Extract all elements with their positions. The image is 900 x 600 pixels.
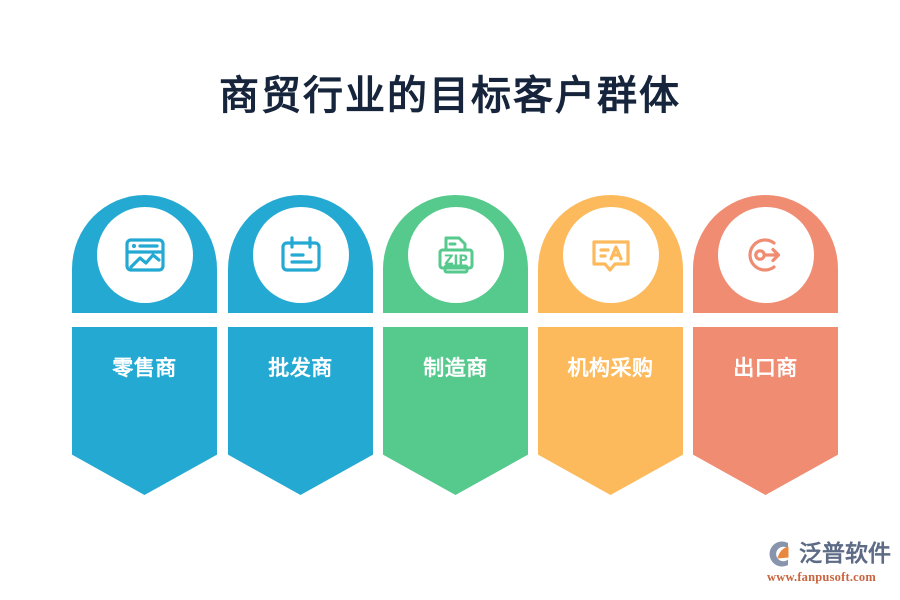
category-card-retailer[interactable]: 零售商 [72,195,217,505]
icon-circle: ZIP [408,207,504,303]
page-title: 商贸行业的目标客户群体 [0,72,900,120]
card-banner: 零售商 [72,327,217,495]
svg-text:ZIP: ZIP [444,254,468,269]
card-label: 出口商 [693,354,838,382]
card-label: 制造商 [383,354,528,382]
category-card-exporter[interactable]: 出口商 [693,195,838,505]
icon-circle [563,207,659,303]
icon-circle [253,207,349,303]
card-dome [693,195,838,313]
icon-circle [97,207,193,303]
card-dome [228,195,373,313]
card-banner: 制造商 [383,327,528,495]
brand-name: 泛普软件 [799,540,891,568]
card-dome [72,195,217,313]
card-dome: ZIP [383,195,528,313]
brand-watermark: 泛普软件 www.fanpusoft.com [766,538,894,588]
category-card-institutional-procurement[interactable]: 机构采购 [538,195,683,505]
export-arrow-icon [738,227,794,283]
card-banner: 出口商 [693,327,838,495]
fanpu-logo-icon [766,539,796,569]
card-label: 零售商 [72,354,217,382]
card-label: 机构采购 [538,354,683,382]
zip-file-icon: ZIP [428,227,484,283]
card-label: 批发商 [228,354,373,382]
icon-circle [718,207,814,303]
window-chart-icon [117,227,173,283]
card-banner: 机构采购 [538,327,683,495]
brand-url: www.fanpusoft.com [767,569,876,585]
card-dome [538,195,683,313]
category-card-row: 零售商 批发商 [72,195,838,505]
brand-row: 泛普软件 [766,538,891,570]
infographic-canvas: 商贸行业的目标客户群体 [0,0,900,600]
speech-bubble-text-icon [583,227,639,283]
calendar-notes-icon [273,227,329,283]
card-banner: 批发商 [228,327,373,495]
category-card-manufacturer[interactable]: ZIP 制造商 [383,195,528,505]
category-card-wholesaler[interactable]: 批发商 [228,195,373,505]
